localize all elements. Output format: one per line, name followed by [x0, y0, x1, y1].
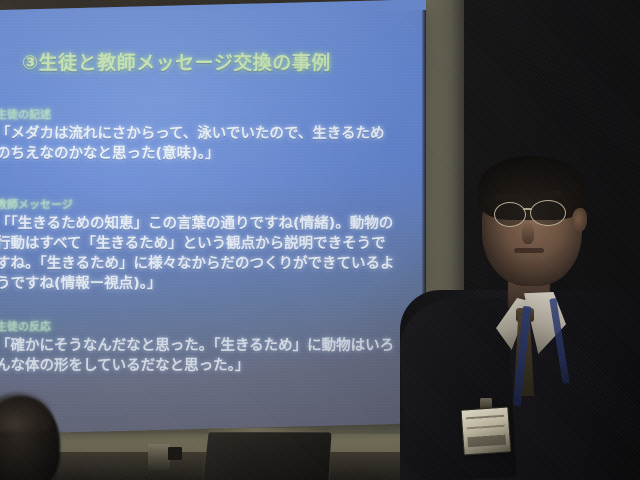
section-heading: 生徒の反応 [0, 318, 396, 334]
section-body: 「「生きるための知恵」この言葉の通りですね(情緒)。動物の行動はすべて「生きるた… [0, 214, 396, 294]
slide-section-student-reaction: 生徒の反応 「確かにそうなんだなと思った。「生きるため」に動物はいろんな体の形を… [0, 318, 396, 376]
small-device-shadow [168, 447, 182, 460]
presenter-mouth [514, 248, 544, 253]
eyeglasses-bridge [523, 208, 532, 210]
presenter [396, 140, 640, 480]
slide-section-teacher-message: 教師メッセージ 「「生きるための知恵」この言葉の通りですね(情緒)。動物の行動は… [0, 196, 396, 294]
slide-section-student-description: 生徒の記述 「メダカは流れにさからって、泳いでいたので、生きるためのちえなのかな… [0, 106, 396, 164]
name-badge [460, 406, 511, 455]
presentation-photo: ③生徒と教師メッセージ交換の事例 生徒の記述 「メダカは流れにさからって、泳いで… [0, 0, 640, 480]
presenter-ear [572, 208, 587, 232]
section-heading: 生徒の記述 [0, 106, 396, 122]
section-body: 「確かにそうなんだなと思った。「生きるため」に動物はいろんな体の形をしているだな… [0, 336, 396, 376]
eyeglasses-lens-left [494, 202, 526, 227]
presenter-nose [522, 224, 534, 244]
name-badge-text [466, 415, 506, 448]
eyeglasses-lens-right [530, 200, 566, 226]
presenter-eyebrow-right [532, 190, 562, 196]
section-heading: 教師メッセージ [0, 196, 396, 212]
slide-title: ③生徒と教師メッセージ交換の事例 [22, 48, 402, 75]
laptop-rear-lid [203, 432, 331, 480]
projected-slide: ③生徒と教師メッセージ交換の事例 生徒の記述 「メダカは流れにさからって、泳いで… [0, 10, 426, 434]
projection-screen: ③生徒と教師メッセージ交換の事例 生徒の記述 「メダカは流れにさからって、泳いで… [0, 0, 426, 434]
small-device [148, 444, 170, 470]
section-body: 「メダカは流れにさからって、泳いでいたので、生きるためのちえなのかなと思った(意… [0, 124, 396, 164]
